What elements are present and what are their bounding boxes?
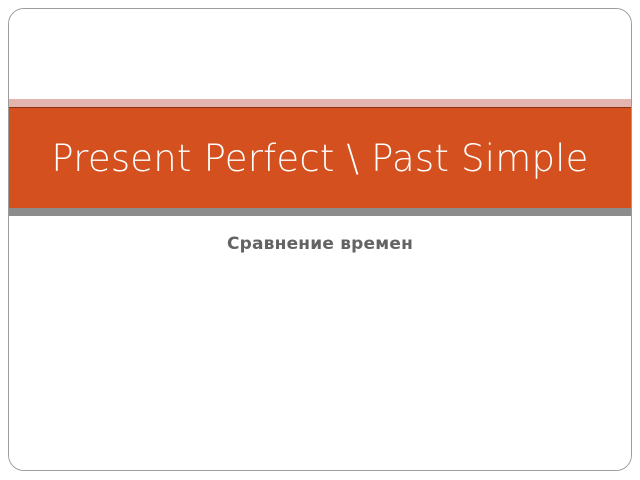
accent-strip-gray xyxy=(9,208,631,216)
slide-body-blank-area xyxy=(9,279,631,470)
slide-canvas: Present Perfect \ Past Simple Сравнение … xyxy=(0,0,640,480)
slide-title: Present Perfect \ Past Simple xyxy=(51,140,588,177)
subtitle-area: Сравнение времен xyxy=(9,216,631,276)
accent-strip-pink xyxy=(9,99,631,107)
slide-header-blank-area xyxy=(9,9,631,99)
slide-frame: Present Perfect \ Past Simple Сравнение … xyxy=(8,8,632,471)
slide-subtitle: Сравнение времен xyxy=(227,234,413,254)
title-banner: Present Perfect \ Past Simple xyxy=(9,108,631,208)
